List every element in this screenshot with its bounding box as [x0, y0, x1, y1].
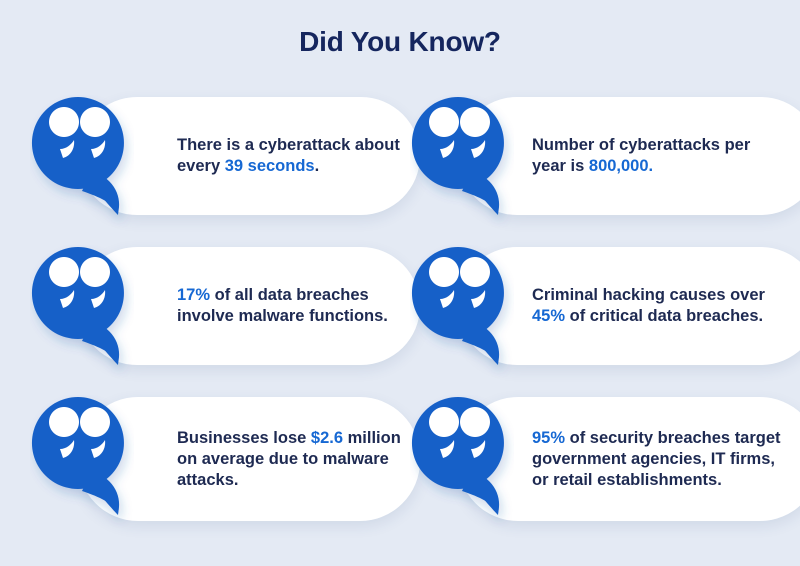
fact-stat-highlight: 800,000. [589, 157, 653, 175]
page-title: Did You Know? [0, 26, 800, 58]
fact-text: Criminal hacking causes over 45% of crit… [532, 245, 782, 367]
fact-stat-highlight: 39 seconds [225, 157, 315, 175]
fact-stat-highlight: $2.6 [311, 429, 343, 447]
fact-text: Businesses lose $2.6 million on average … [177, 395, 419, 523]
fact-text: Number of cyberattacks per year is 800,0… [532, 95, 782, 217]
fact-text: 17% of all data breaches involve malware… [177, 245, 419, 367]
fact-stat-highlight: 45% [532, 307, 565, 325]
fact-text-segment: Criminal hacking causes over [532, 286, 765, 304]
fact-stat-highlight: 95% [532, 429, 565, 447]
fact-text: There is a cyberattack about every 39 se… [177, 95, 419, 217]
fact-text-segment: Businesses lose [177, 429, 311, 447]
fact-text-segment: . [315, 157, 320, 175]
facts-row: Businesses lose $2.6 million on average … [0, 395, 800, 555]
facts-row: 17% of all data breaches involve malware… [0, 245, 800, 395]
facts-grid: There is a cyberattack about every 39 se… [0, 95, 800, 555]
facts-row: There is a cyberattack about every 39 se… [0, 95, 800, 245]
fact-text-segment: of critical data breaches. [565, 307, 763, 325]
fact-stat-highlight: 17% [177, 286, 210, 304]
fact-text-segment: of security breaches target government a… [532, 429, 781, 489]
fact-text: 95% of security breaches target governme… [532, 395, 782, 523]
